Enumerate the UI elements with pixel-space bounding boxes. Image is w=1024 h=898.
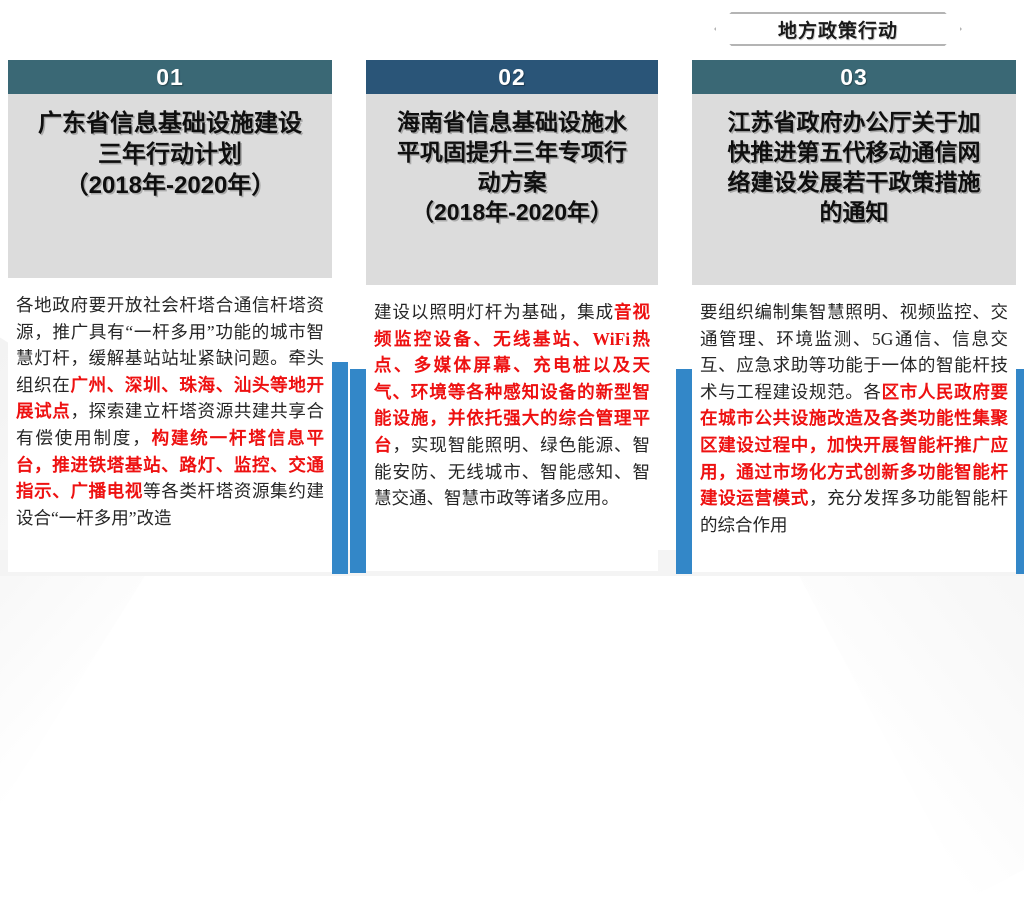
policy-card-02: 02 海南省信息基础设施水平巩固提升三年专项行动方案（2018年-2020年） … <box>366 60 658 571</box>
card-title-panel-01: 广东省信息基础设施建设三年行动计划（2018年-2020年） <box>8 94 332 278</box>
card-title-line: 快推进第五代移动通信网 <box>728 139 981 165</box>
accent-bar-left-03 <box>676 369 692 574</box>
body-text-highlight: 音视频监控设备、无线基站、WiFi热点、多媒体屏幕、充电桩以及天气、环境等各种感… <box>374 302 650 455</box>
card-title-03: 江苏省政府办公厅关于加快推进第五代移动通信网络建设发展若干政策措施的通知 <box>700 108 1008 228</box>
card-title-line: （2018年-2020年） <box>65 172 276 199</box>
card-title-line: 平巩固提升三年专项行 <box>397 139 627 165</box>
card-number-03: 03 <box>840 64 868 91</box>
card-title-panel-03: 江苏省政府办公厅关于加快推进第五代移动通信网络建设发展若干政策措施的通知 <box>692 94 1016 285</box>
card-title-01: 广东省信息基础设施建设三年行动计划（2018年-2020年） <box>16 108 324 202</box>
policy-card-01: 01 广东省信息基础设施建设三年行动计划（2018年-2020年） 各地政府要开… <box>8 60 332 572</box>
card-title-panel-02: 海南省信息基础设施水平巩固提升三年专项行动方案（2018年-2020年） <box>366 94 658 285</box>
card-title-line: （2018年-2020年） <box>411 199 613 225</box>
card-title-line: 络建设发展若干政策措施 <box>728 169 981 195</box>
card-number-header-02: 02 <box>366 60 658 94</box>
card-title-line: 广东省信息基础设施建设 <box>38 110 302 137</box>
body-text-plain: 建设以照明灯杆为基础，集成 <box>374 302 614 322</box>
card-title-line: 三年行动计划 <box>98 141 242 168</box>
body-text-plain: ，实现智能照明、绿色能源、智能安防、无线城市、智能感知、智慧交通、智慧市政等诸多… <box>374 435 650 508</box>
card-number-02: 02 <box>498 64 526 91</box>
card-number-header-01: 01 <box>8 60 332 94</box>
accent-bar-right-01 <box>332 362 348 574</box>
card-body-wrap-01: 各地政府要开放社会杆塔合通信杆塔资源，推广具有“一杆多用”功能的城市智慧灯杆，缓… <box>8 286 332 572</box>
card-body-02: 建设以照明灯杆为基础，集成音视频监控设备、无线基站、WiFi热点、多媒体屏幕、充… <box>366 293 658 571</box>
card-body-wrap-02: 建设以照明灯杆为基础，集成音视频监控设备、无线基站、WiFi热点、多媒体屏幕、充… <box>366 293 658 571</box>
card-title-line: 动方案 <box>478 169 547 195</box>
card-body-03: 要组织编制集智慧照明、视频监控、交通管理、环境监测、5G通信、信息交互、应急求助… <box>692 293 1016 572</box>
accent-bar-right-03 <box>1016 369 1024 574</box>
card-number-01: 01 <box>156 64 184 91</box>
card-number-header-03: 03 <box>692 60 1016 94</box>
section-banner-label: 地方政策行动 <box>714 12 962 46</box>
card-body-wrap-03: 要组织编制集智慧照明、视频监控、交通管理、环境监测、5G通信、信息交互、应急求助… <box>692 293 1016 572</box>
card-body-01: 各地政府要开放社会杆塔合通信杆塔资源，推广具有“一杆多用”功能的城市智慧灯杆，缓… <box>8 286 332 572</box>
card-title-line: 海南省信息基础设施水 <box>397 109 627 135</box>
policy-card-03: 03 江苏省政府办公厅关于加快推进第五代移动通信网络建设发展若干政策措施的通知 … <box>692 60 1016 572</box>
card-title-02: 海南省信息基础设施水平巩固提升三年专项行动方案（2018年-2020年） <box>374 108 650 228</box>
card-title-line: 江苏省政府办公厅关于加 <box>728 109 981 135</box>
card-title-line: 的通知 <box>820 199 889 225</box>
accent-bar-left-02 <box>350 369 366 573</box>
